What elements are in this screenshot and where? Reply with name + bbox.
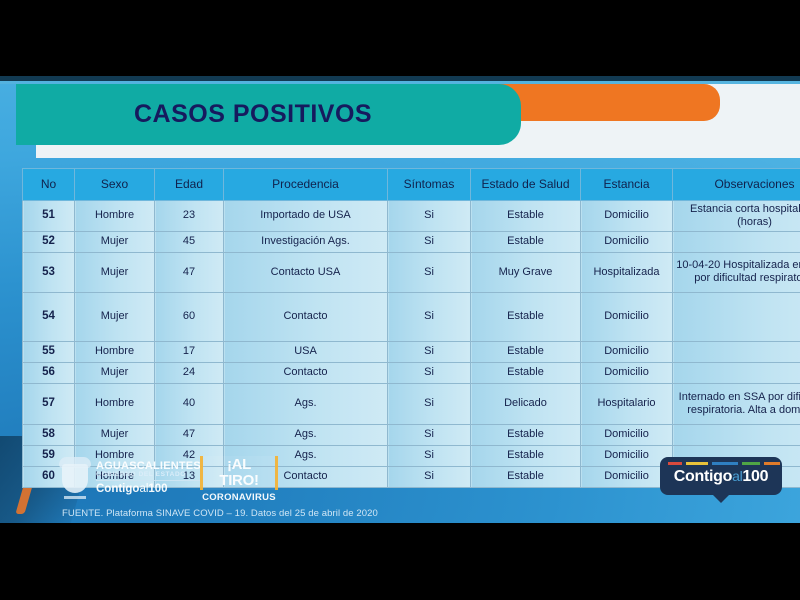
cell-procedencia: Contacto USA [224,252,388,292]
column-header-procedencia: Procedencia [224,169,388,201]
cell-estancia: Domicilio [581,341,673,362]
cell-no: 53 [23,252,75,292]
cell-edad: 23 [155,201,224,232]
crest-shield [62,464,88,493]
cases-table-body: 51 Hombre 23 Importado de USA Si Estable… [23,201,800,488]
cell-estado-salud: Muy Grave [471,252,581,292]
cell-estancia: Hospitalario [581,383,673,424]
presentation-slide: CASOS POSITIVOS No Sexo Edad Procedencia… [0,76,800,523]
cell-observaciones [673,362,800,383]
cell-estado-salud: Estable [471,231,581,252]
cases-table: No Sexo Edad Procedencia Síntomas Estado… [22,168,800,488]
letterbox-top [0,0,800,76]
altiro-logo: ¡AL TIRO! CORONAVIRUS [200,456,278,503]
altiro-badge-text: ¡AL TIRO! [200,456,278,490]
cell-estancia: Domicilio [581,445,673,466]
cell-estancia: Domicilio [581,292,673,341]
table-row: 53 Mujer 47 Contacto USA Si Muy Grave Ho… [23,252,800,292]
cell-estado-salud: Estable [471,341,581,362]
cell-edad: 47 [155,424,224,445]
screenshot-stage: CASOS POSITIVOS No Sexo Edad Procedencia… [0,0,800,600]
cell-estado-salud: Estable [471,362,581,383]
cell-estancia: Domicilio [581,201,673,232]
cell-sexo: Mujer [75,362,155,383]
cell-sintomas: Si [388,466,471,487]
cell-edad: 60 [155,292,224,341]
cell-edad: 40 [155,383,224,424]
cell-procedencia: Investigación Ags. [224,231,388,252]
cell-no: 56 [23,362,75,383]
cell-sintomas: Si [388,362,471,383]
cell-sexo: Mujer [75,231,155,252]
cell-observaciones [673,341,800,362]
table-row: 55 Hombre 17 USA Si Estable Domicilio [23,341,800,362]
cell-sexo: Hombre [75,201,155,232]
cell-sintomas: Si [388,383,471,424]
cell-procedencia: Contacto [224,292,388,341]
altiro-subtitle: CORONAVIRUS [200,492,278,503]
cell-observaciones: Estancia corta hospitalaria (horas) [673,201,800,232]
stripe-green [742,462,760,465]
cell-procedencia: Contacto [224,362,388,383]
cell-observaciones [673,231,800,252]
table-row: 54 Mujer 60 Contacto Si Estable Domicili… [23,292,800,341]
cell-estancia: Domicilio [581,362,673,383]
cell-no: 51 [23,201,75,232]
contigo-al-100-badge: Contigoal100 [660,457,782,495]
table-row: 56 Mujer 24 Contacto Si Estable Domicili… [23,362,800,383]
column-header-observaciones: Observaciones [673,169,800,201]
cell-no: 55 [23,341,75,362]
page-title: CASOS POSITIVOS [134,100,372,129]
cell-procedencia: Ags. [224,424,388,445]
cell-sintomas: Si [388,445,471,466]
table-header-row: No Sexo Edad Procedencia Síntomas Estado… [23,169,800,201]
government-subtitle: GOBIERNO DEL ESTADO [96,472,201,481]
cell-edad: 24 [155,362,224,383]
government-logo-text: AGUASCALIENTES GOBIERNO DEL ESTADO Conti… [96,461,201,495]
table-row: 58 Mujer 47 Ags. Si Estable Domicilio [23,424,800,445]
cell-estado-salud: Estable [471,424,581,445]
cell-sexo: Mujer [75,292,155,341]
stripe-red [668,462,682,465]
cell-sintomas: Si [388,292,471,341]
stripe-orange [764,462,780,465]
cell-observaciones: 10-04-20 Hospitalizada en SSA, por dific… [673,252,800,292]
government-slogan-main: Contigo [96,483,139,495]
government-logo: AGUASCALIENTES GOBIERNO DEL ESTADO Conti… [58,454,198,502]
cell-estado-salud: Estable [471,445,581,466]
column-header-sintomas: Síntomas [388,169,471,201]
contigo-badge-text: Contigoal100 [660,468,782,486]
title-banner: CASOS POSITIVOS [16,84,521,145]
source-note: FUENTE. Plataforma SINAVE COVID – 19. Da… [62,508,378,519]
cell-estancia: Domicilio [581,424,673,445]
cell-estado-salud: Estable [471,466,581,487]
cell-estado-salud: Delicado [471,383,581,424]
cell-sintomas: Si [388,424,471,445]
contigo-al: al [732,468,742,484]
cell-estancia: Domicilio [581,466,673,487]
cell-sintomas: Si [388,252,471,292]
cell-sexo: Hombre [75,383,155,424]
letterbox-bottom [0,523,800,600]
table-row: 52 Mujer 45 Investigación Ags. Si Establ… [23,231,800,252]
cell-edad: 45 [155,231,224,252]
contigo-main: Contigo [674,468,732,485]
government-slogan: Contigoal100 [96,483,201,495]
cell-sintomas: Si [388,341,471,362]
stripe-blue [712,462,738,465]
cell-edad: 47 [155,252,224,292]
contigo-num: 100 [742,468,768,485]
cell-no: 54 [23,292,75,341]
stripe-yellow [686,462,708,465]
column-header-edad: Edad [155,169,224,201]
contigo-stripe-bar [668,462,774,465]
cases-table-container: No Sexo Edad Procedencia Síntomas Estado… [22,168,780,488]
cell-no: 58 [23,424,75,445]
cell-observaciones: Internado en SSA por dificultad respirat… [673,383,800,424]
cell-edad: 17 [155,341,224,362]
crest-base [64,496,86,499]
column-header-sexo: Sexo [75,169,155,201]
cell-sintomas: Si [388,201,471,232]
cell-sexo: Mujer [75,424,155,445]
column-header-estancia: Estancia [581,169,673,201]
cell-estado-salud: Estable [471,292,581,341]
coat-of-arms-icon [58,457,92,499]
cell-estado-salud: Estable [471,201,581,232]
cell-sexo: Hombre [75,341,155,362]
cell-sexo: Mujer [75,252,155,292]
cell-estancia: Domicilio [581,231,673,252]
table-row: 57 Hombre 40 Ags. Si Delicado Hospitalar… [23,383,800,424]
cell-no: 57 [23,383,75,424]
column-header-no: No [23,169,75,201]
cell-procedencia: Ags. [224,383,388,424]
cell-procedencia: Importado de USA [224,201,388,232]
cases-table-head: No Sexo Edad Procedencia Síntomas Estado… [23,169,800,201]
cell-estancia: Hospitalizada [581,252,673,292]
cell-no: 52 [23,231,75,252]
table-row: 51 Hombre 23 Importado de USA Si Estable… [23,201,800,232]
cell-procedencia: USA [224,341,388,362]
cell-sintomas: Si [388,231,471,252]
cell-observaciones [673,292,800,341]
column-header-estado-salud: Estado de Salud [471,169,581,201]
government-slogan-num: 100 [148,483,167,495]
cell-observaciones [673,424,800,445]
